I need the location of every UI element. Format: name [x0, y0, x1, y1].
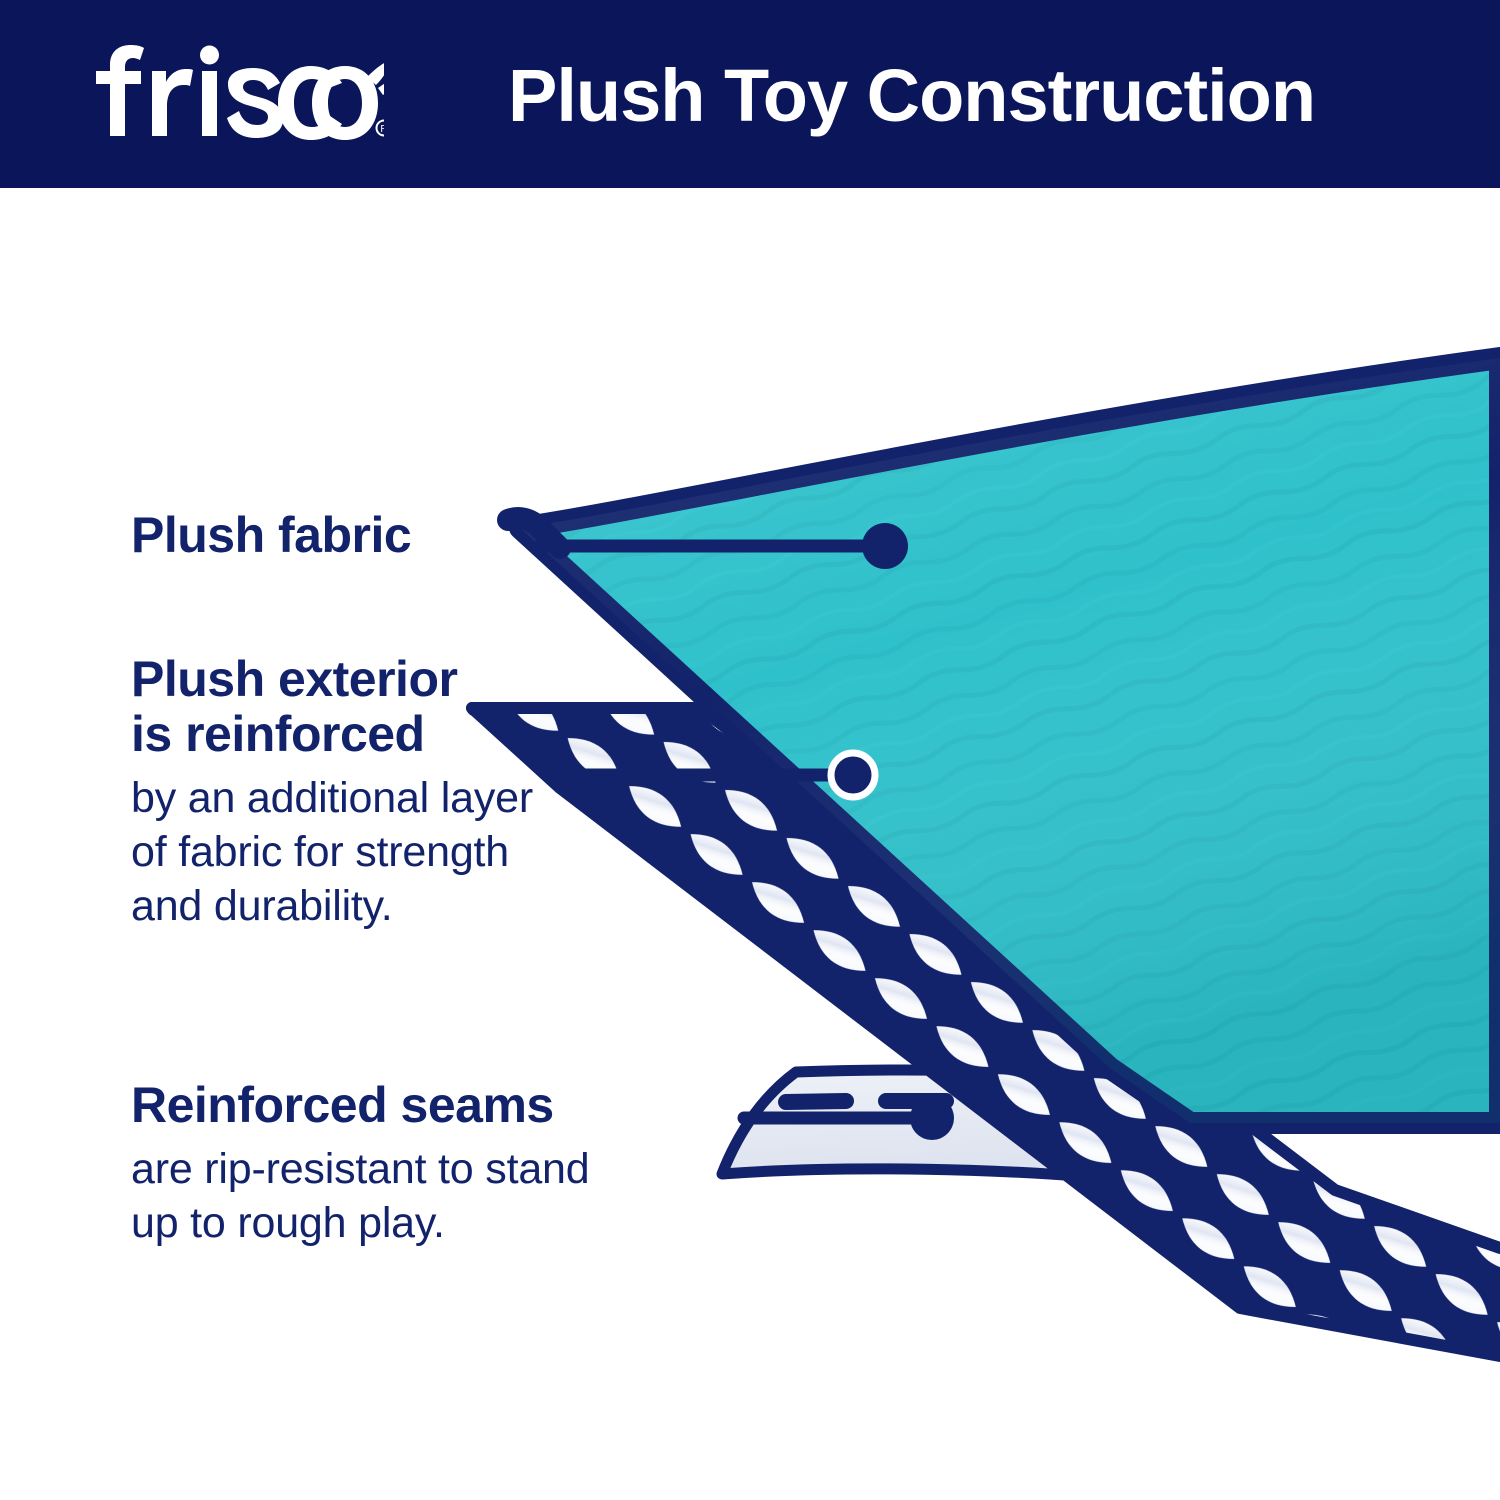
- callout-heading: Plush exterior is reinforced: [131, 652, 711, 762]
- svg-text:R: R: [380, 124, 384, 135]
- callout-body: by an additional layer of fabric for str…: [131, 772, 711, 933]
- callout-heading: Plush fabric: [131, 508, 561, 563]
- page-title: Plush Toy Construction: [508, 46, 1315, 146]
- header-bar: R Plush Toy Construction: [0, 0, 1500, 188]
- callout-plush-fabric: Plush fabric: [131, 508, 561, 563]
- frisco-logo: R: [84, 44, 384, 144]
- callout-heading: Reinforced seams: [131, 1078, 791, 1133]
- callout-reinforced-seams: Reinforced seams are rip-resistant to st…: [131, 1078, 791, 1251]
- callout-body: are rip-resistant to stand up to rough p…: [131, 1143, 791, 1251]
- infographic-page: R Plush Toy Construction: [0, 0, 1500, 1500]
- callout-plush-exterior: Plush exterior is reinforced by an addit…: [131, 652, 711, 933]
